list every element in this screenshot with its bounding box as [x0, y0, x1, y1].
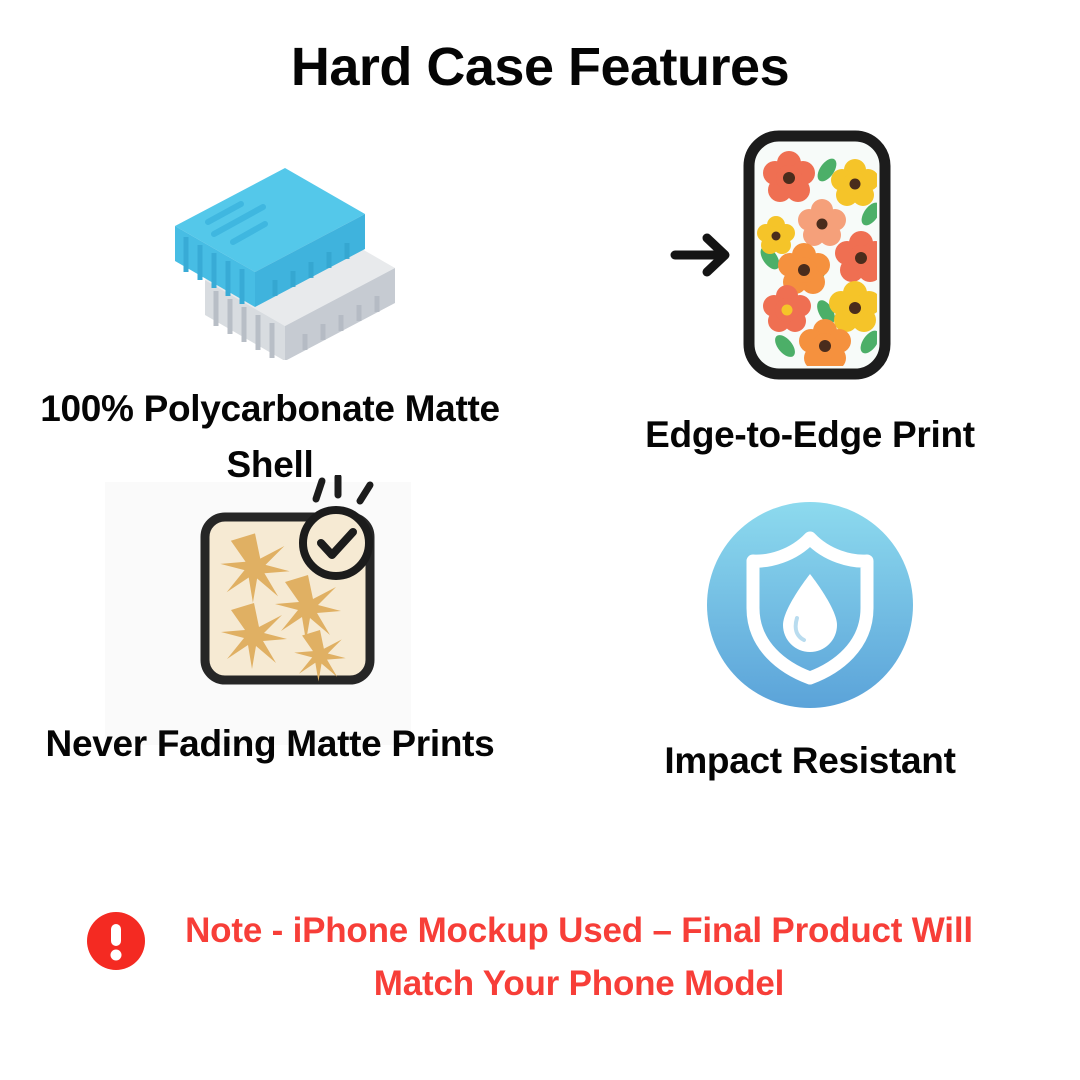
phone-case-flowers-icon — [665, 130, 955, 385]
page-title: Hard Case Features — [0, 38, 1080, 97]
shield-droplet-icon — [705, 500, 915, 715]
feature-label: Edge-to-Edge Print — [570, 407, 1050, 463]
layers-stack-icon — [145, 150, 395, 365]
features-grid: 100% Polycarbonate Matte Shell — [0, 130, 1080, 890]
feature-impact-resistant: Impact Resistant — [540, 500, 1080, 789]
sparkle-panel-check-icon — [150, 475, 390, 710]
feature-edge-to-edge-print: Edge-to-Edge Print — [540, 130, 1080, 463]
note-bar: Note - iPhone Mockup Used – Final Produc… — [0, 905, 1080, 1010]
feature-label: Impact Resistant — [580, 733, 1040, 789]
feature-never-fading-prints: Never Fading Matte Prints — [0, 475, 540, 772]
feature-label: Never Fading Matte Prints — [40, 716, 500, 772]
exclamation-circle-icon — [86, 911, 146, 976]
arrow-right-icon — [675, 238, 725, 272]
note-text: Note - iPhone Mockup Used – Final Produc… — [164, 905, 994, 1010]
feature-polycarbonate-shell: 100% Polycarbonate Matte Shell — [0, 150, 540, 492]
